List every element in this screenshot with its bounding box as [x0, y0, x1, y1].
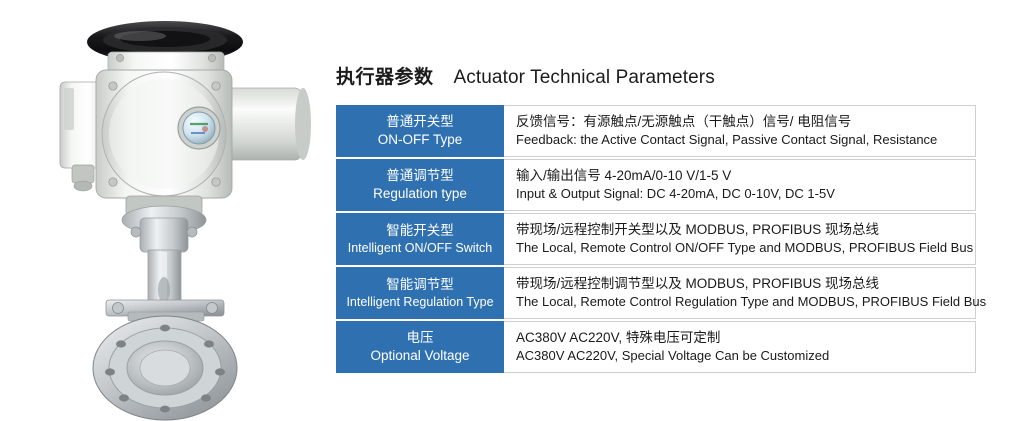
row-content-intelligent-on-off-switch: 带现场/远程控制开关型以及 MODBUS, PROFIBUS 现场总线 The … — [504, 213, 976, 265]
row-content-intelligent-regulation-type: 带现场/远程控制调节型以及 MODBUS, PROFIBUS 现场总线 The … — [504, 267, 976, 319]
row-content-on-off-type: 反馈信号：有源触点/无源触点（干触点）信号/ 电阻信号 Feedback: th… — [504, 105, 976, 157]
electric-actuator-butterfly-valve-illustration — [0, 0, 330, 421]
row-content-en: Feedback: the Active Contact Signal, Pas… — [516, 131, 965, 150]
row-content-optional-voltage: AC380V AC220V, 特殊电压可定制 AC380V AC220V, Sp… — [504, 321, 976, 373]
row-label-cn: 智能开关型 — [386, 222, 454, 240]
row-label-cn: 普通开关型 — [386, 113, 454, 131]
row-content-cn: AC380V AC220V, 特殊电压可定制 — [516, 328, 965, 348]
valve-flange — [93, 316, 237, 420]
spec-panel: 执行器参数 Actuator Technical Parameters 普通开关… — [336, 0, 1020, 421]
table-row: 智能开关型 Intelligent ON/OFF Switch 带现场/远程控制… — [336, 213, 976, 265]
row-content-en: AC380V AC220V, Special Voltage Can be Cu… — [516, 347, 965, 366]
row-content-cn: 带现场/远程控制调节型以及 MODBUS, PROFIBUS 现场总线 — [516, 274, 965, 294]
row-content-cn: 带现场/远程控制开关型以及 MODBUS, PROFIBUS 现场总线 — [516, 220, 965, 240]
table-row: 电压 Optional Voltage AC380V AC220V, 特殊电压可… — [336, 321, 976, 373]
table-row: 普通调节型 Regulation type 输入/输出信号 4-20mA/0-1… — [336, 159, 976, 211]
row-label-on-off-type: 普通开关型 ON-OFF Type — [336, 105, 504, 157]
product-image — [0, 0, 330, 421]
row-content-cn: 反馈信号：有源触点/无源触点（干触点）信号/ 电阻信号 — [516, 112, 965, 132]
row-label-cn: 智能调节型 — [386, 276, 454, 294]
actuator-parameters-table: 普通开关型 ON-OFF Type 反馈信号：有源触点/无源触点（干触点）信号/… — [336, 105, 976, 373]
row-label-regulation-type: 普通调节型 Regulation type — [336, 159, 504, 211]
row-label-en: Intelligent Regulation Type — [346, 294, 493, 311]
row-label-intelligent-on-off-switch: 智能开关型 Intelligent ON/OFF Switch — [336, 213, 504, 265]
table-row: 普通开关型 ON-OFF Type 反馈信号：有源触点/无源触点（干触点）信号/… — [336, 105, 976, 157]
row-label-en: Regulation type — [373, 185, 467, 203]
row-label-cn: 普通调节型 — [386, 167, 454, 185]
row-label-optional-voltage: 电压 Optional Voltage — [336, 321, 504, 373]
page-title-en: Actuator Technical Parameters — [454, 67, 715, 89]
position-indicator-window — [178, 107, 220, 149]
row-content-regulation-type: 输入/输出信号 4-20mA/0-10 V/1-5 V Input & Outp… — [504, 159, 976, 211]
row-content-cn: 输入/输出信号 4-20mA/0-10 V/1-5 V — [516, 166, 965, 186]
table-row: 智能调节型 Intelligent Regulation Type 带现场/远程… — [336, 267, 976, 319]
row-label-cn: 电压 — [407, 329, 434, 347]
row-label-en: Intelligent ON/OFF Switch — [348, 240, 493, 257]
row-content-en: The Local, Remote Control Regulation Typ… — [516, 293, 965, 312]
page-title: 执行器参数 Actuator Technical Parameters — [336, 62, 715, 89]
row-label-en: ON-OFF Type — [378, 131, 463, 149]
row-content-en: Input & Output Signal: DC 4-20mA, DC 0-1… — [516, 185, 965, 204]
row-label-intelligent-regulation-type: 智能调节型 Intelligent Regulation Type — [336, 267, 504, 319]
page-title-cn: 执行器参数 — [336, 62, 434, 89]
row-label-en: Optional Voltage — [370, 347, 469, 365]
row-content-en: The Local, Remote Control ON/OFF Type an… — [516, 239, 965, 258]
